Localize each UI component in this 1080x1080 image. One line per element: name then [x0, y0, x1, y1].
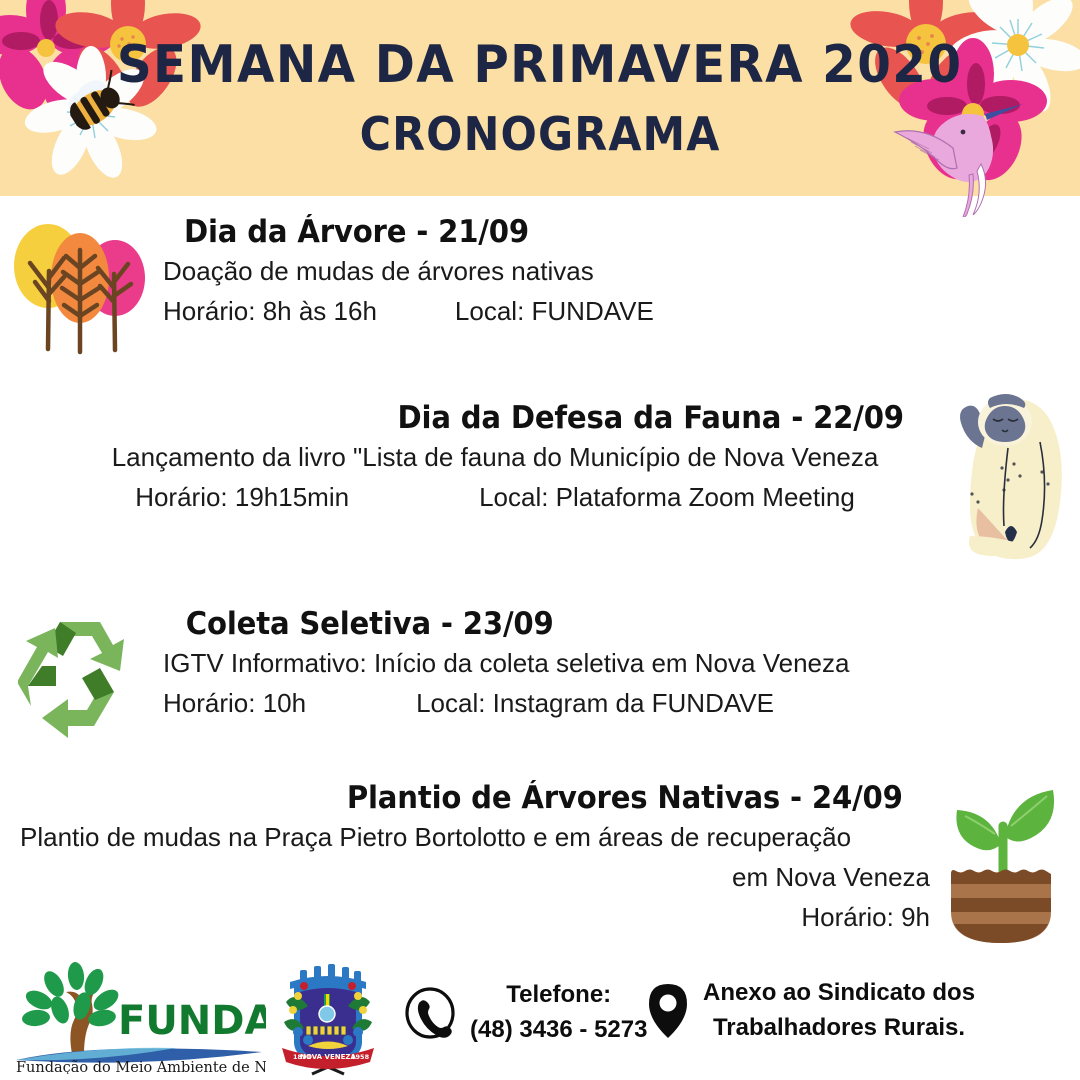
spacer — [349, 477, 479, 517]
brasao-year-left: 1891 — [293, 1053, 312, 1061]
contact-address-text: Anexo ao Sindicato dos Trabalhadores Rur… — [703, 976, 975, 1046]
event-4-text: Plantio de Árvores Nativas - 24/09 Plant… — [20, 780, 930, 937]
event-1-title: Dia da Árvore - 21/09 — [184, 214, 842, 251]
fundave-tagline: Fundação do Meio Ambiente de Nova Veneza — [16, 1060, 266, 1074]
header-banner: SEMANA DA PRIMAVERA 2020 CRONOGRAMA — [0, 0, 1080, 196]
poster-subtitle: CRONOGRAMA — [360, 110, 721, 158]
monkey-icon — [942, 386, 1072, 561]
event-3-details: Horário: 10h Local: Instagram da FUNDAVE — [163, 683, 923, 723]
header-title-block: SEMANA DA PRIMAVERA 2020 CRONOGRAMA — [0, 0, 1080, 196]
contact-phone-block: Telefone: (48) 3436 - 5273 — [404, 978, 647, 1048]
event-3-title: Coleta Seletiva - 23/09 — [186, 606, 900, 643]
recycle-icon — [18, 608, 143, 743]
fundave-wordmark: FUNDAVE — [118, 998, 266, 1044]
event-3-time: Horário: 10h — [163, 683, 306, 723]
event-2-place: Local: Plataforma Zoom Meeting — [479, 477, 855, 517]
address-line-2: Trabalhadores Rurais. — [703, 1011, 975, 1046]
address-line-1: Anexo ao Sindicato dos — [703, 976, 975, 1011]
event-1-place: Local: FUNDAVE — [455, 291, 654, 331]
seedling-icon — [941, 778, 1066, 943]
map-pin-icon — [645, 982, 691, 1040]
brasao-year-right: 1958 — [351, 1053, 370, 1061]
three-trees-icon — [8, 216, 148, 356]
event-3-description: IGTV Informativo: Início da coleta selet… — [163, 643, 923, 683]
spacer — [306, 683, 416, 723]
event-2-title: Dia da Defesa da Fauna - 22/09 — [86, 400, 904, 437]
spacer — [377, 291, 455, 331]
event-1-details: Horário: 8h às 16h Local: FUNDAVE — [163, 291, 863, 331]
event-1-text: Dia da Árvore - 21/09 Doação de mudas de… — [163, 214, 863, 331]
phone-label: Telefone: — [470, 978, 647, 1013]
event-3-place: Local: Instagram da FUNDAVE — [416, 683, 774, 723]
event-1-time: Horário: 8h às 16h — [163, 291, 377, 331]
contact-phone-text: Telefone: (48) 3436 - 5273 — [470, 978, 647, 1048]
poster-canvas: SEMANA DA PRIMAVERA 2020 CRONOGRAMA — [0, 0, 1080, 1080]
event-4-description-line1: Plantio de mudas na Praça Pietro Bortolo… — [20, 817, 930, 857]
phone-icon — [404, 987, 456, 1039]
event-2-details: Horário: 19h15min Local: Plataforma Zoom… — [60, 477, 930, 517]
event-4-time: Horário: 9h — [20, 897, 930, 937]
phone-number: (48) 3436 - 5273 — [470, 1013, 647, 1048]
event-4-description-line2: em Nova Veneza — [20, 857, 930, 897]
event-4-title: Plantio de Árvores Nativas - 24/09 — [47, 780, 902, 817]
footer-bar: FUNDAVE Fundação do Meio Ambiente de Nov… — [0, 958, 1080, 1080]
event-3-text: Coleta Seletiva - 23/09 IGTV Informativo… — [163, 606, 923, 723]
contact-address-block: Anexo ao Sindicato dos Trabalhadores Rur… — [645, 976, 975, 1046]
poster-title: SEMANA DA PRIMAVERA 2020 — [117, 38, 963, 93]
fundave-tree-logo: FUNDAVE Fundação do Meio Ambiente de Nov… — [14, 962, 266, 1074]
event-1-description: Doação de mudas de árvores nativas — [163, 251, 863, 291]
event-2-description: Lançamento da livro "Lista de fauna do M… — [60, 437, 930, 477]
nova-veneza-coat-of-arms-icon: NOVA VENEZA 1891 1958 — [276, 960, 380, 1076]
event-2-text: Dia da Defesa da Fauna - 22/09 Lançament… — [60, 400, 930, 517]
event-2-time: Horário: 19h15min — [135, 477, 349, 517]
events-list: Dia da Árvore - 21/09 Doação de mudas de… — [0, 196, 1080, 956]
